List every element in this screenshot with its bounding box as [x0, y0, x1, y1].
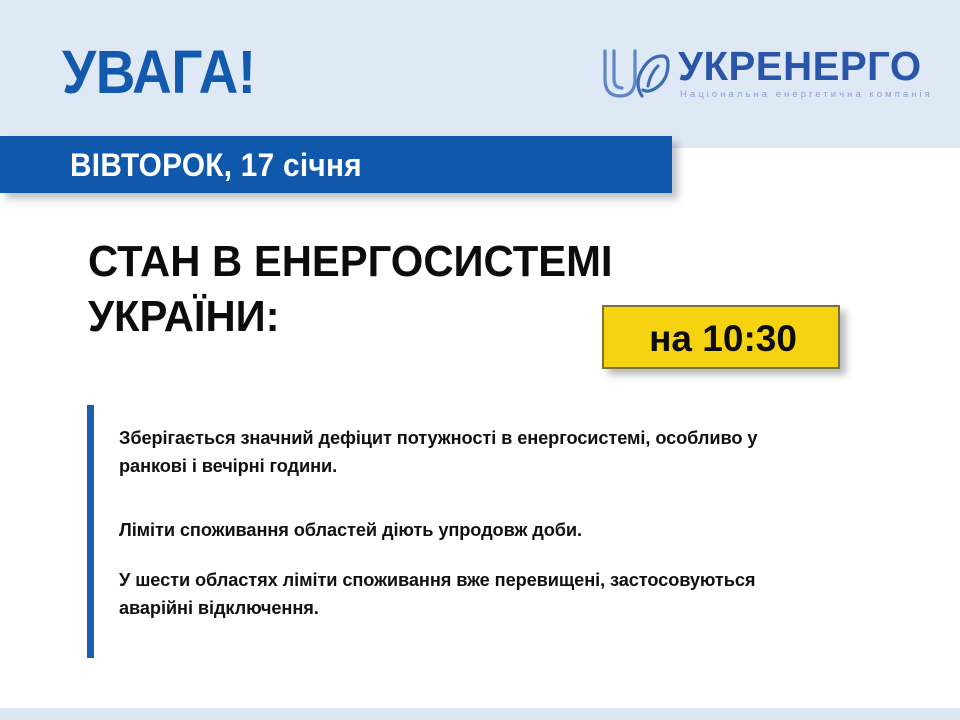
body-paragraph: Зберігається значний дефіцит потужності … — [119, 424, 828, 480]
announcement-poster: УВАГА! УКРЕНЕРГО Національна енергетична… — [0, 0, 960, 720]
page-title: УВАГА! — [62, 40, 256, 104]
bottom-strip — [0, 708, 960, 720]
time-badge: на 10:30 — [602, 305, 840, 369]
body-paragraph: У шести областях ліміти споживання вже п… — [119, 566, 828, 622]
body-paragraph: Ліміти споживання областей діють упродов… — [119, 516, 828, 544]
ukrenergo-logo: УКРЕНЕРГО Національна енергетична компан… — [598, 44, 918, 108]
accent-bar — [87, 405, 94, 658]
ukrenergo-wordmark: УКРЕНЕРГО — [678, 44, 922, 88]
ukrenergo-leaf-mark — [598, 46, 670, 104]
header-band: УВАГА! УКРЕНЕРГО Національна енергетична… — [0, 0, 960, 148]
time-badge-label: на 10:30 — [604, 318, 842, 360]
date-banner: ВІВТОРОК, 17 січня — [0, 136, 672, 193]
ukrenergo-subtitle: Національна енергетична компанія — [680, 89, 933, 101]
date-label: ВІВТОРОК, 17 січня — [70, 146, 362, 184]
body-text-block: Зберігається значний дефіцит потужності … — [119, 424, 839, 622]
